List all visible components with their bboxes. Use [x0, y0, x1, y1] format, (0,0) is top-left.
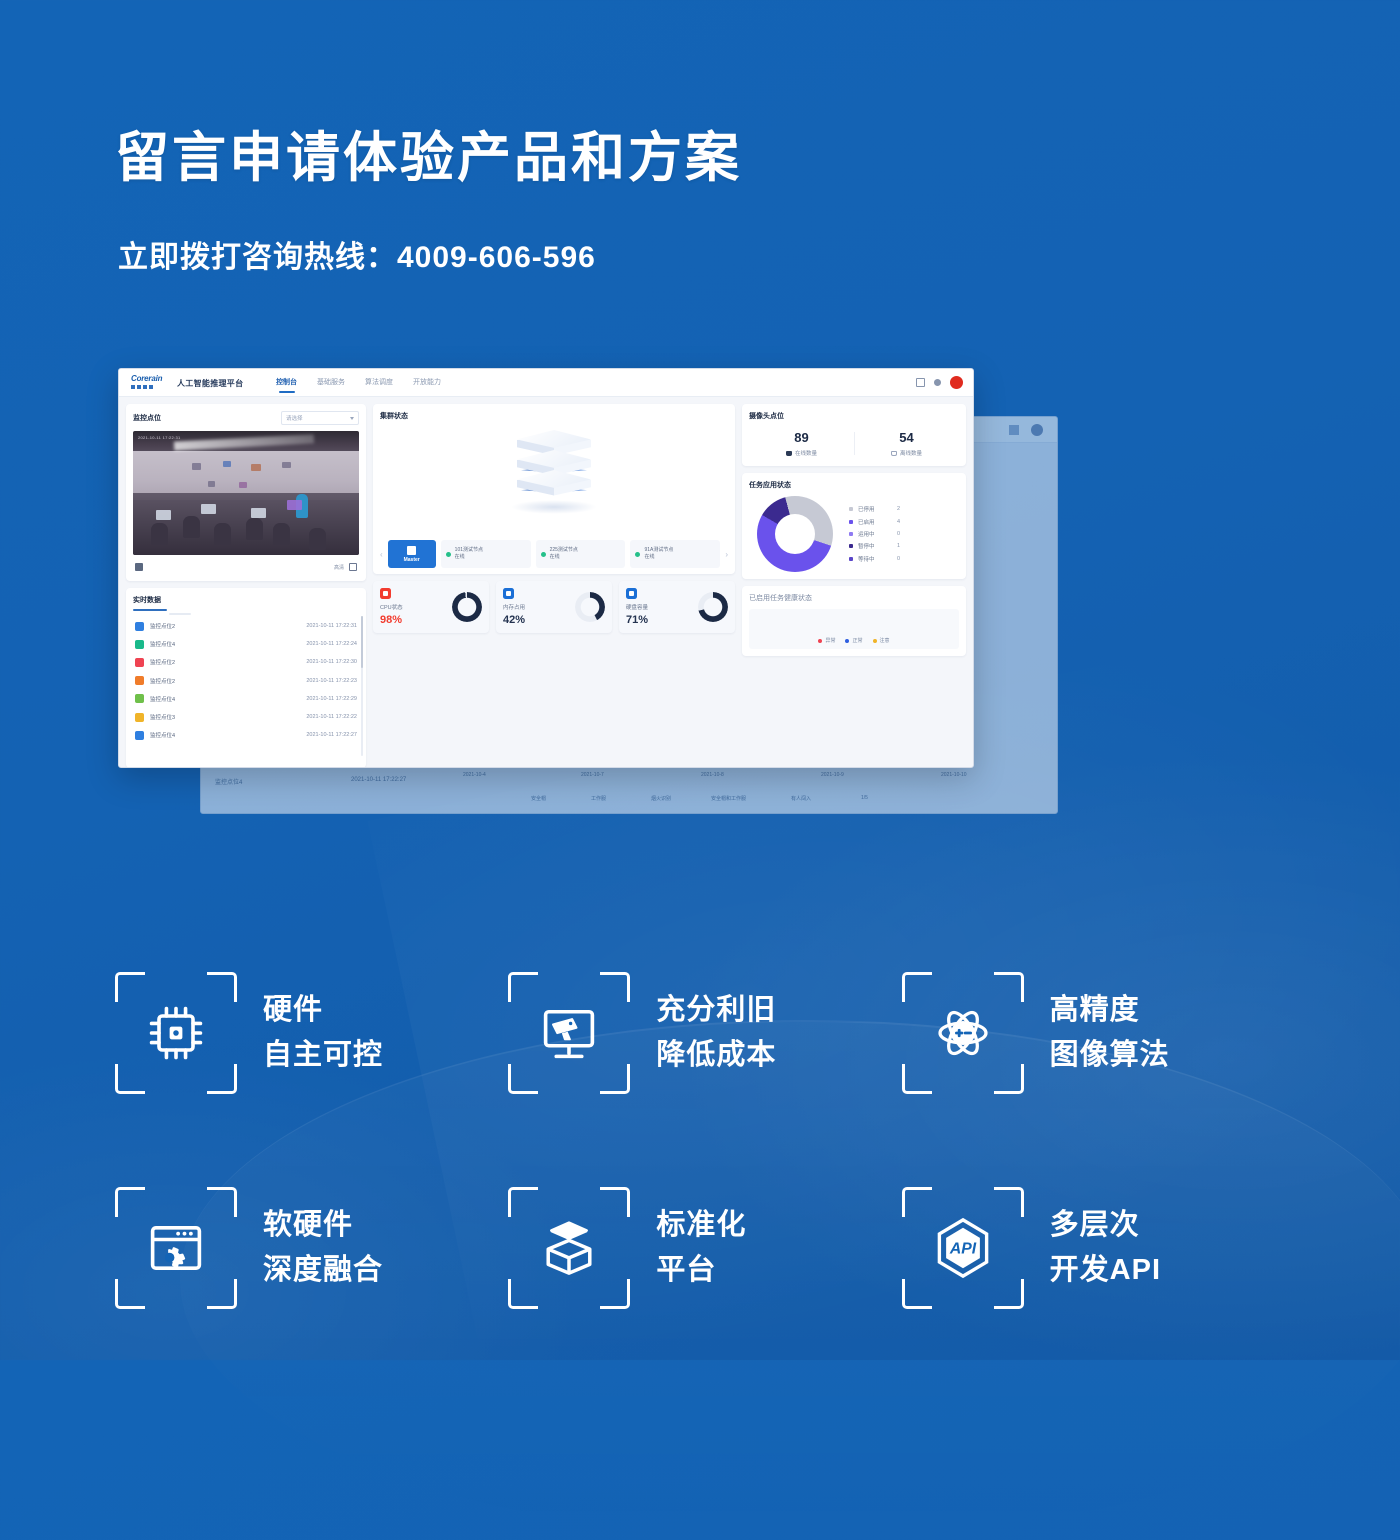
- health-legend-label: 异常: [825, 637, 835, 644]
- camera-online-value: 89: [749, 430, 854, 445]
- feature-line1: 高精度: [1050, 988, 1170, 1033]
- event-time: 2021-10-11 17:22:27: [306, 732, 357, 738]
- legend-label: 运用中: [858, 530, 892, 538]
- feature-platform: 标准化 平台: [508, 1140, 901, 1355]
- tab-basic-services[interactable]: 基础服务: [317, 377, 345, 392]
- brand-logo: Corerain: [131, 374, 162, 389]
- memory-icon: [503, 588, 514, 599]
- feature-line2: 深度融合: [263, 1248, 383, 1293]
- event-name: 监控点位2: [150, 677, 214, 685]
- node-card[interactable]: 91A测试节点 在线: [630, 540, 720, 568]
- master-node-label: Master: [404, 557, 420, 563]
- memory-progress-ring: [575, 592, 605, 622]
- camera-online-stat: 89 在线数量: [749, 430, 854, 457]
- bg-pager: 1/5: [861, 795, 868, 801]
- bg-window-maximize-icon: [1009, 425, 1019, 435]
- legend-label: 等待中: [858, 555, 892, 563]
- chevron-down-icon: [350, 417, 354, 420]
- feature-algorithm: 高精度 图像算法: [902, 925, 1295, 1140]
- bg-x-tick: 2021-10-7: [581, 772, 604, 778]
- event-time: 2021-10-11 17:22:24: [306, 641, 357, 647]
- realtime-panel: 实时数据 监控点位2 2021-10-11 17:22:31 监控点位4 202…: [126, 588, 366, 768]
- feature-label: 充分利旧 降低成本: [656, 988, 776, 1078]
- event-type-icon: [135, 640, 144, 649]
- svg-text:API: API: [949, 1240, 977, 1257]
- realtime-panel-title: 实时数据: [133, 595, 359, 605]
- list-item[interactable]: 监控点位2 2021-10-11 17:22:23: [133, 672, 359, 690]
- server-stack-shadow: [511, 500, 597, 514]
- monitor-point-select[interactable]: 请选择: [281, 411, 359, 425]
- monitor-panel: 监控点位 请选择: [126, 404, 366, 581]
- camera-offline-value: 54: [854, 430, 959, 445]
- server-stack-icon: [517, 430, 591, 490]
- event-name: 监控点位4: [150, 731, 214, 739]
- camera-offline-stat: 54 离线数量: [854, 430, 959, 457]
- list-scrollbar-thumb[interactable]: [361, 616, 363, 668]
- list-item[interactable]: 监控点位2 2021-10-11 17:22:31: [133, 617, 359, 635]
- window-maximize-icon[interactable]: [934, 379, 941, 386]
- feature-grid: 硬件 自主可控 充分利旧 降低成本: [115, 925, 1295, 1355]
- health-panel-title: 已启用任务健康状态: [749, 593, 959, 603]
- event-time: 2021-10-11 17:22:30: [306, 659, 357, 665]
- video-feed[interactable]: 2021-10-11 17:22:31: [133, 431, 359, 555]
- event-type-icon: [135, 731, 144, 740]
- bg-x-tick: 2021-10-10: [941, 772, 967, 778]
- feature-line2: 开发API: [1050, 1248, 1161, 1293]
- legend-dot: [849, 544, 853, 548]
- carousel-prev-icon[interactable]: ‹: [380, 550, 383, 559]
- feature-line1: 软硬件: [263, 1203, 383, 1248]
- event-name: 监控点位4: [150, 695, 214, 703]
- list-item[interactable]: 监控点位4 2021-10-11 17:22:27: [133, 726, 359, 744]
- legend-value: 1: [897, 543, 900, 549]
- app-title: 人工智能推理平台: [177, 378, 243, 389]
- feature-line2: 自主可控: [263, 1033, 383, 1078]
- node-status: 在线: [644, 554, 654, 560]
- bg-x-tick: 2021-10-8: [701, 772, 724, 778]
- bg-window-close-icon: [1031, 424, 1043, 436]
- bg-legend: 安全帽: [531, 795, 546, 802]
- feature-integration: 软硬件 深度融合: [115, 1140, 508, 1355]
- bg-legend: 安全帽和工作服: [711, 795, 746, 802]
- task-donut-chart: [757, 496, 833, 572]
- metric-value: 71%: [626, 614, 648, 626]
- metric-card-cpu: CPU状态 98%: [373, 581, 489, 633]
- bg-list-time: 2021-10-11 17:22:27: [351, 777, 406, 783]
- event-type-icon: [135, 676, 144, 685]
- fullscreen-icon[interactable]: [349, 563, 357, 571]
- monitor-select-value: 请选择: [286, 414, 303, 422]
- feature-line2: 图像算法: [1050, 1033, 1170, 1078]
- legend-item: 暂停中 1: [849, 540, 900, 552]
- node-name: 91A测试节点: [644, 547, 673, 553]
- metric-label: 内存占用: [503, 603, 525, 611]
- metric-card-disk: 硬盘容量 71%: [619, 581, 735, 633]
- app-topbar: Corerain 人工智能推理平台 控制台 基础服务 算法调度 开放能力: [119, 369, 973, 397]
- node-status-dot: [635, 552, 640, 557]
- health-legend-label: 注意: [880, 637, 890, 644]
- event-time: 2021-10-11 17:22:22: [306, 714, 357, 720]
- feature-line2: 降低成本: [656, 1033, 776, 1078]
- legend-dot: [849, 557, 853, 561]
- window-controls: [916, 376, 963, 389]
- legend-value: 4: [897, 519, 900, 525]
- feature-line1: 标准化: [656, 1203, 746, 1248]
- event-type-icon: [135, 622, 144, 631]
- metric-card-memory: 内存占用 42%: [496, 581, 612, 633]
- task-status-panel: 任务应用状态 已停用 2 已启用 4: [742, 473, 966, 579]
- product-screenshot: 54 离线数量 监控点位4 2021-10-11 17:22:27 2021-1…: [118, 368, 1058, 828]
- legend-label: 已停用: [858, 505, 892, 513]
- legend-value: 0: [897, 531, 900, 537]
- tab-algorithm-scheduling[interactable]: 算法调度: [365, 377, 393, 392]
- cluster-panel: 集群状态 ‹ Master: [373, 404, 735, 574]
- event-name: 监控点位4: [150, 640, 214, 648]
- feature-api: API 多层次 开发API: [902, 1140, 1295, 1355]
- cpu-icon: [380, 588, 391, 599]
- legend-dot: [849, 507, 853, 511]
- right-column: 摄像头点位 89 在线数量 54: [742, 404, 966, 768]
- atom-icon: [902, 972, 1024, 1094]
- feature-line1: 硬件: [263, 988, 383, 1033]
- dashboard-body: 监控点位 请选择: [119, 397, 973, 768]
- hotline-text: 立即拨打咨询热线：4009-606-596: [118, 232, 596, 276]
- metric-label: 硬盘容量: [626, 603, 648, 611]
- realtime-list: 监控点位2 2021-10-11 17:22:31 监控点位4 2021-10-…: [133, 617, 359, 744]
- video-play-icon[interactable]: [135, 563, 143, 571]
- legend-item: 等待中 0: [849, 553, 900, 565]
- list-item[interactable]: 监控点位3 2021-10-11 17:22:22: [133, 708, 359, 726]
- cluster-panel-title: 集群状态: [380, 411, 728, 421]
- dashboard-window: Corerain 人工智能推理平台 控制台 基础服务 算法调度 开放能力: [118, 368, 974, 768]
- cpu-progress-ring: [452, 592, 482, 622]
- health-chart-area: 异常 正常 注意: [749, 609, 959, 649]
- node-status-dot: [446, 552, 451, 557]
- event-name: 监控点位3: [150, 713, 214, 721]
- legend-dot: [849, 520, 853, 524]
- node-name: 225测试节点: [550, 547, 578, 553]
- event-type-icon: [135, 713, 144, 722]
- realtime-tab-indicator: [133, 609, 167, 611]
- health-legend-item: 正常: [845, 637, 862, 644]
- health-legend-item: 注意: [873, 637, 890, 644]
- node-status-dot: [541, 552, 546, 557]
- browser-gear-icon: [115, 1187, 237, 1309]
- event-name: 监控点位2: [150, 658, 214, 666]
- video-timestamp: 2021-10-11 17:22:31: [138, 435, 181, 440]
- event-name: 监控点位2: [150, 622, 214, 630]
- bg-legend: 烟火识别: [651, 795, 671, 802]
- bg-legend: 有人闯入: [791, 795, 811, 802]
- task-donut-legend: 已停用 2 已启用 4 运用中 0: [849, 503, 900, 565]
- video-controls: 高清: [133, 560, 359, 574]
- feature-line2: 平台: [656, 1248, 746, 1293]
- legend-value: 0: [897, 556, 900, 562]
- realtime-tab-rest: [169, 613, 191, 615]
- video-ceiling-light: [174, 435, 314, 451]
- chip-icon: [115, 972, 237, 1094]
- monitor-panel-title: 监控点位: [133, 413, 161, 423]
- legend-dot: [849, 532, 853, 536]
- tab-open-capability[interactable]: 开放能力: [413, 377, 441, 392]
- carousel-next-icon[interactable]: ›: [725, 550, 728, 559]
- legend-item: 运用中 0: [849, 528, 900, 540]
- event-type-icon: [135, 658, 144, 667]
- feature-line1: 充分利旧: [656, 988, 776, 1033]
- brand-logo-dots: [131, 385, 162, 389]
- feature-line1: 多层次: [1050, 1203, 1161, 1248]
- metrics-row: CPU状态 98% 内存占用 42%: [373, 581, 735, 633]
- node-card[interactable]: 101测试节点 在线: [441, 540, 531, 568]
- api-hexagon-icon: API: [902, 1187, 1024, 1309]
- page-title: 留言申请体验产品和方案: [115, 128, 742, 188]
- metric-value: 42%: [503, 614, 525, 626]
- window-close-icon[interactable]: [950, 376, 963, 389]
- center-column: 集群状态 ‹ Master: [373, 404, 735, 768]
- legend-item: 已停用 2: [849, 503, 900, 515]
- cube-icon: [508, 1187, 630, 1309]
- node-card[interactable]: 225测试节点 在线: [536, 540, 626, 568]
- main-nav: 控制台 基础服务 算法调度 开放能力: [276, 377, 441, 392]
- legend-item: 已启用 4: [849, 515, 900, 527]
- feature-label: 硬件 自主可控: [263, 988, 383, 1078]
- feature-label: 软硬件 深度融合: [263, 1203, 383, 1293]
- cluster-node-carousel: ‹ Master 101测试节点 在线: [380, 540, 728, 568]
- list-item[interactable]: 监控点位4 2021-10-11 17:22:29: [133, 690, 359, 708]
- master-node-icon: [407, 546, 416, 555]
- camera-offline-label: 离线数量: [900, 449, 922, 457]
- camera-online-icon: [786, 451, 792, 456]
- camera-panel: 摄像头点位 89 在线数量 54: [742, 404, 966, 466]
- left-column: 监控点位 请选择: [126, 404, 366, 768]
- window-minimize-icon[interactable]: [916, 378, 925, 387]
- camera-monitor-icon: [508, 972, 630, 1094]
- feature-hardware: 硬件 自主可控: [115, 925, 508, 1140]
- camera-panel-title: 摄像头点位: [749, 411, 959, 421]
- disk-icon: [626, 588, 637, 599]
- health-panel: 已启用任务健康状态 异常 正常 注意: [742, 586, 966, 656]
- brand-logo-text: Corerain: [131, 374, 162, 383]
- legend-label: 已启用: [858, 518, 892, 526]
- event-time: 2021-10-11 17:22:31: [306, 623, 357, 629]
- tab-console[interactable]: 控制台: [276, 377, 297, 392]
- bg-list-row: 监控点位4: [215, 777, 242, 786]
- task-panel-title: 任务应用状态: [749, 480, 959, 490]
- event-type-icon: [135, 694, 144, 703]
- health-legend-label: 正常: [852, 637, 862, 644]
- health-legend-item: 异常: [818, 637, 835, 644]
- metric-value: 98%: [380, 614, 403, 626]
- node-status: 在线: [550, 554, 560, 560]
- feature-label: 高精度 图像算法: [1050, 988, 1170, 1078]
- video-quality-label: 高清: [334, 564, 344, 571]
- feature-label: 标准化 平台: [656, 1203, 746, 1293]
- event-time: 2021-10-11 17:22:23: [306, 678, 357, 684]
- list-item[interactable]: 监控点位4 2021-10-11 17:22:24: [133, 635, 359, 653]
- feature-label: 多层次 开发API: [1050, 1203, 1161, 1293]
- node-status: 在线: [455, 554, 465, 560]
- metric-label: CPU状态: [380, 603, 403, 611]
- event-time: 2021-10-11 17:22:29: [306, 696, 357, 702]
- bg-x-tick: 2021-10-4: [463, 772, 486, 778]
- camera-offline-icon: [891, 451, 897, 456]
- node-master-card[interactable]: Master: [388, 540, 436, 568]
- camera-online-label: 在线数量: [795, 449, 817, 457]
- disk-progress-ring: [698, 592, 728, 622]
- feature-reuse: 充分利旧 降低成本: [508, 925, 901, 1140]
- legend-value: 2: [897, 506, 900, 512]
- list-item[interactable]: 监控点位2 2021-10-11 17:22:30: [133, 653, 359, 671]
- bg-legend: 工作服: [591, 795, 606, 802]
- legend-label: 暂停中: [858, 542, 892, 550]
- bg-x-tick: 2021-10-9: [821, 772, 844, 778]
- node-name: 101测试节点: [455, 547, 483, 553]
